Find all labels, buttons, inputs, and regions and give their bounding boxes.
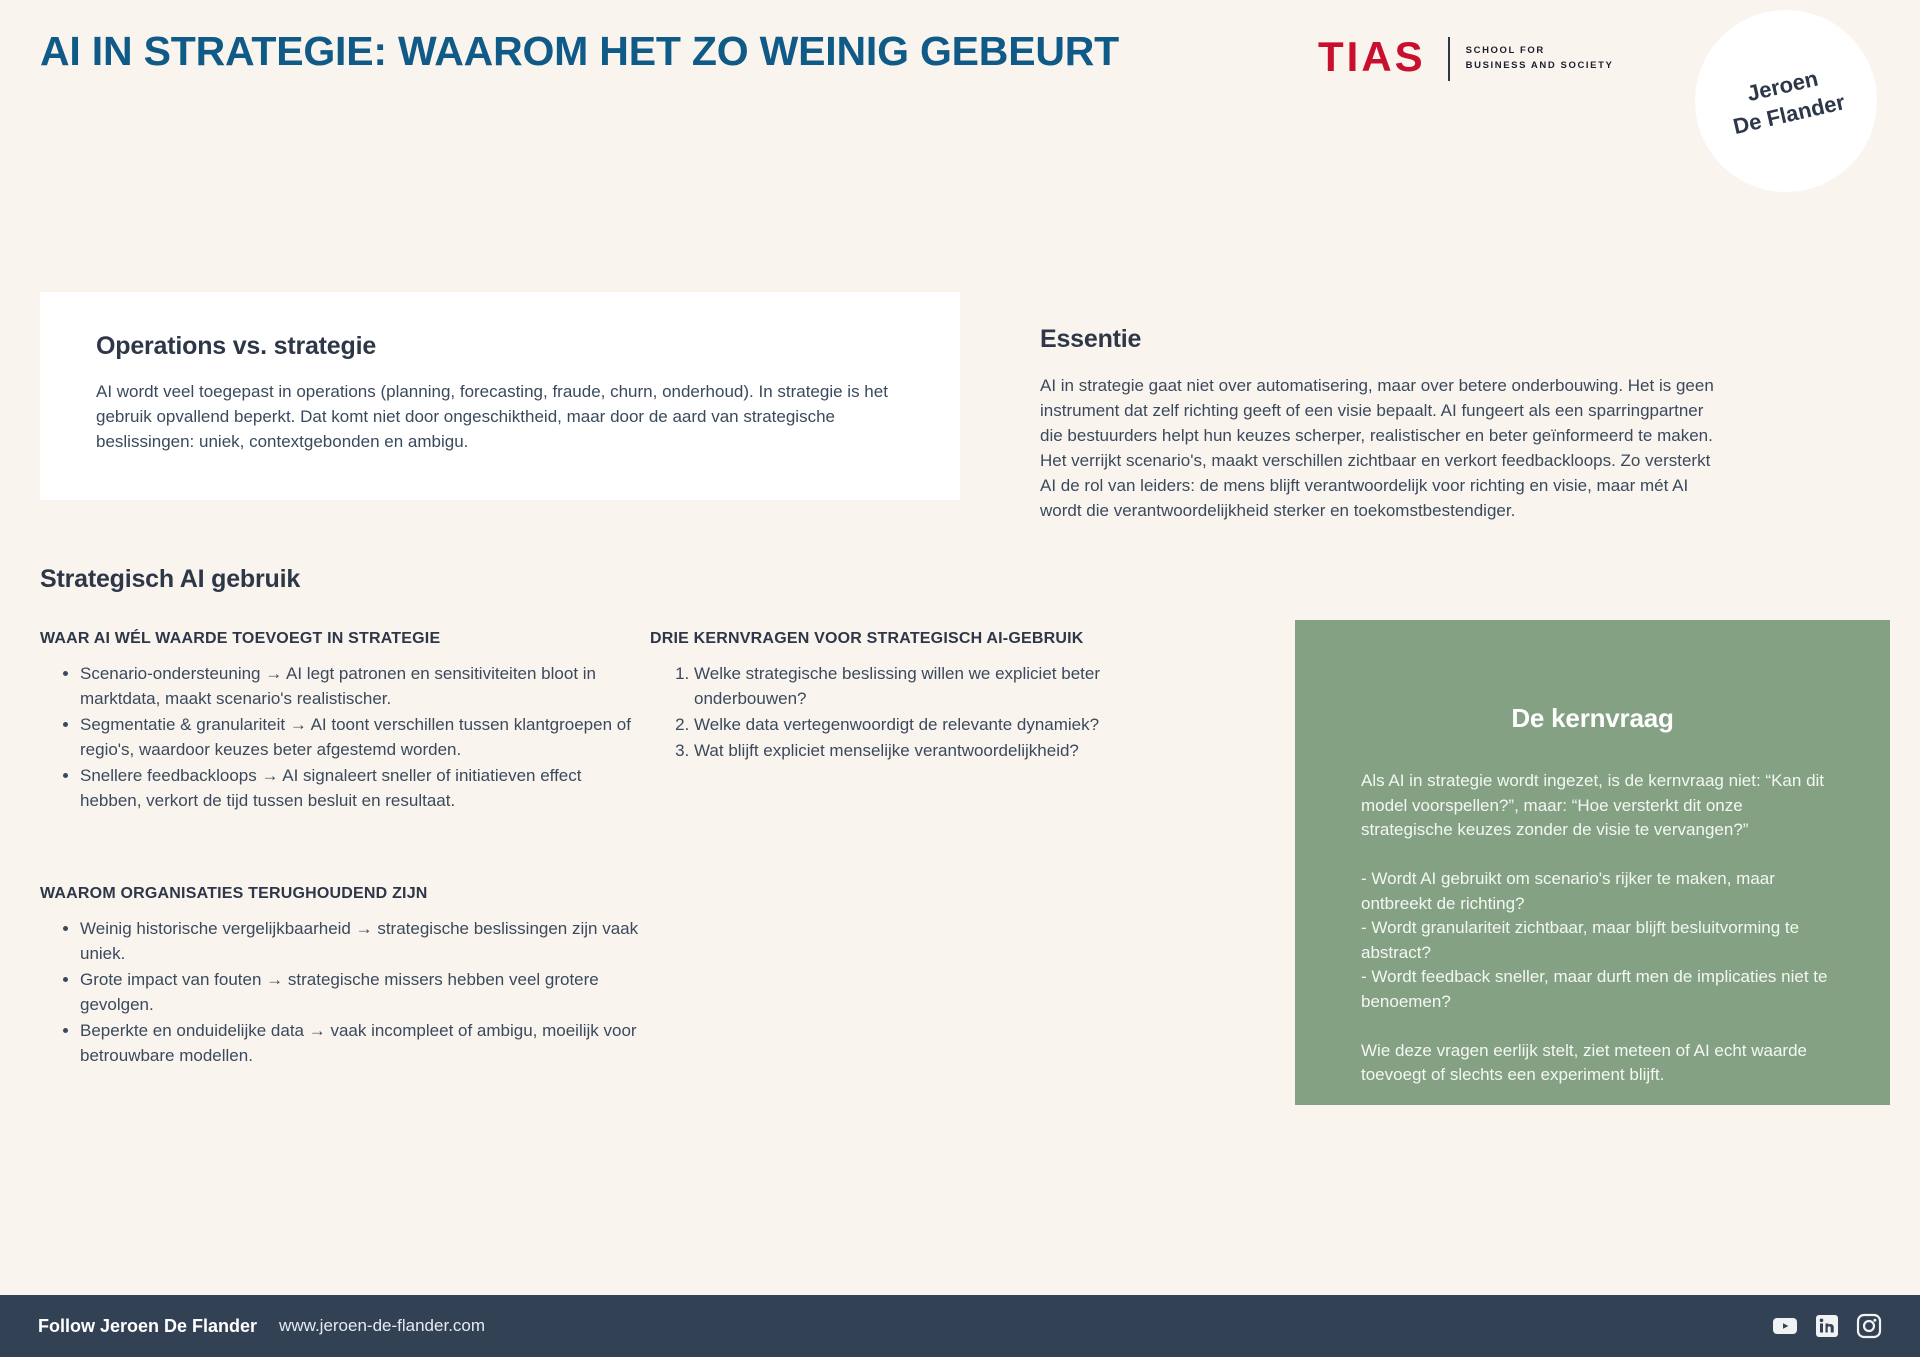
linkedin-icon[interactable]: [1814, 1313, 1840, 1339]
footer-follow-label: Follow Jeroen De Flander: [38, 1316, 257, 1337]
list-item: Wat blijft expliciet menselijke verantwo…: [694, 739, 1210, 764]
kernvraag-paragraph-3: Wie deze vragen eerlijk stelt, ziet mete…: [1361, 1039, 1836, 1088]
tias-tagline: SCHOOL FOR BUSINESS AND SOCIETY: [1466, 35, 1614, 83]
strategisch-heading: Strategisch AI gebruik: [40, 565, 300, 594]
page-footer: Follow Jeroen De Flander www.jeroen-de-f…: [0, 1295, 1920, 1357]
page-header: AI in strategie: waarom het zo weinig ge…: [0, 0, 1920, 215]
list-item: Segmentatie & granulariteit → AI toont v…: [80, 713, 640, 763]
kernvraag-paragraph-2: - Wordt AI gebruikt om scenario's rijker…: [1361, 867, 1836, 1015]
kernvraag-panel: De kernvraag Als AI in strategie wordt i…: [1295, 620, 1890, 1105]
column-b-heading: DRIE KERNVRAGEN VOOR STRATEGISCH AI-GEBR…: [650, 630, 1210, 648]
essentie-body: AI in strategie gaat niet over automatis…: [1040, 374, 1720, 524]
operations-card-body: AI wordt veel toegepast in operations (p…: [96, 380, 908, 455]
column-a2-heading: WAAROM ORGANISATIES TERUGHOUDEND ZIJN: [40, 885, 660, 903]
operations-card-heading: Operations vs. strategie: [96, 332, 908, 361]
list-item: Weinig historische vergelijkbaarheid → s…: [80, 917, 660, 967]
poster-page: AI in strategie: waarom het zo weinig ge…: [0, 0, 1920, 1357]
essentie-heading: Essentie: [1040, 325, 1720, 354]
logo-divider: [1448, 37, 1450, 81]
tias-wordmark: TIAS: [1318, 35, 1426, 83]
page-title: AI in strategie: waarom het zo weinig ge…: [40, 26, 1220, 76]
column-a2-list: Weinig historische vergelijkbaarheid → s…: [80, 917, 660, 1069]
list-item: Beperkte en onduidelijke data → vaak inc…: [80, 1019, 660, 1069]
tias-tagline-line2: BUSINESS AND SOCIETY: [1466, 59, 1614, 74]
badge-text: Jeroen De Flander: [1724, 60, 1848, 141]
instagram-icon[interactable]: [1856, 1313, 1882, 1339]
list-item: Grote impact van fouten → strategische m…: [80, 968, 660, 1018]
column-a-heading: WAAR AI WÉL WAARDE TOEVOEGT IN STRATEGIE: [40, 630, 640, 648]
footer-website-link[interactable]: www.jeroen-de-flander.com: [279, 1316, 485, 1336]
kernvraag-title: De kernvraag: [1295, 703, 1890, 734]
column-waar-ai-wel-waarde: WAAR AI WÉL WAARDE TOEVOEGT IN STRATEGIE…: [40, 630, 640, 815]
youtube-icon[interactable]: [1772, 1313, 1798, 1339]
list-item: Snellere feedbackloops → AI signaleert s…: [80, 764, 640, 814]
column-b-list: Welke strategische beslissing willen we …: [694, 662, 1210, 764]
spacer: [1361, 843, 1836, 867]
list-item: Welke data vertegenwoordigt de relevante…: [694, 713, 1210, 738]
tias-logo: TIAS SCHOOL FOR BUSINESS AND SOCIETY: [1318, 35, 1613, 83]
social-links: [1772, 1313, 1882, 1339]
kernvraag-body: Als AI in strategie wordt ingezet, is de…: [1295, 769, 1890, 1088]
column-waarom-terughoudend: WAAROM ORGANISATIES TERUGHOUDEND ZIJN We…: [40, 885, 660, 1070]
column-a-list: Scenario-ondersteuning → AI legt patrone…: [80, 662, 640, 814]
list-item: Welke strategische beslissing willen we …: [694, 662, 1210, 712]
essentie-section: Essentie AI in strategie gaat niet over …: [1040, 325, 1720, 524]
kernvraag-paragraph-1: Als AI in strategie wordt ingezet, is de…: [1361, 769, 1836, 843]
operations-card: Operations vs. strategie AI wordt veel t…: [40, 292, 960, 500]
column-drie-kernvragen: DRIE KERNVRAGEN VOOR STRATEGISCH AI-GEBR…: [650, 630, 1210, 765]
list-item: Scenario-ondersteuning → AI legt patrone…: [80, 662, 640, 712]
spacer: [1361, 1015, 1836, 1039]
tias-tagline-line1: SCHOOL FOR: [1466, 44, 1614, 59]
jeroen-de-flander-badge: Jeroen De Flander: [1695, 10, 1877, 192]
